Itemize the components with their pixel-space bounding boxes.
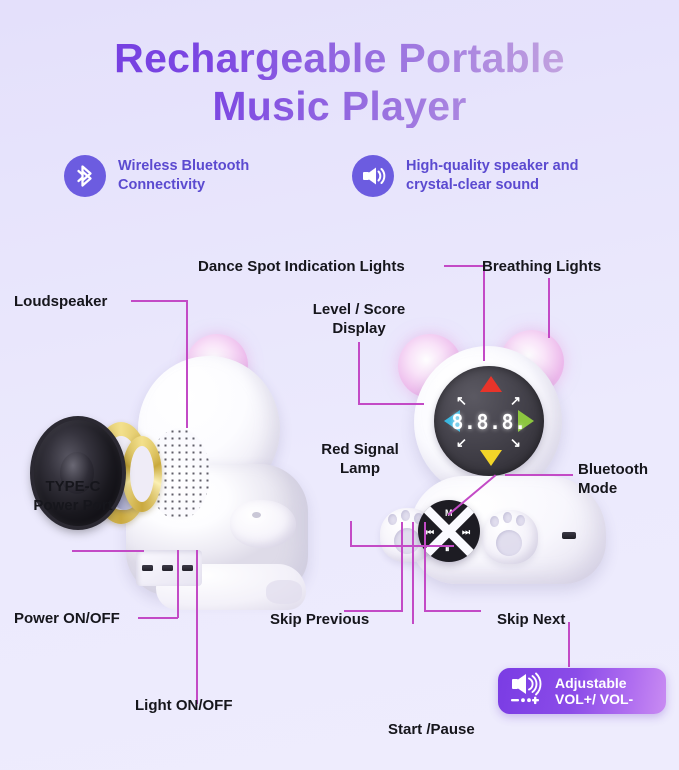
leader-line-bluetooth-mode <box>505 474 573 476</box>
down-triangle-yellow <box>480 450 502 466</box>
arrow-up-left-icon: ↖ <box>456 394 467 407</box>
vol-badge-line-1: Adjustable <box>555 675 633 691</box>
volume-icon <box>508 671 548 712</box>
arrow-down-right-icon: ↘ <box>510 436 521 449</box>
leader-line-power <box>177 550 179 618</box>
feature-speaker-label: High-quality speaker and crystal-clear s… <box>406 157 578 195</box>
page-title-line-1: Rechargeable Portable <box>0 38 679 80</box>
leader-line-loudspeaker <box>131 300 187 302</box>
leader-line-breathing <box>548 278 550 338</box>
callout-start-pause: Start /Pause <box>388 720 475 739</box>
callout-red-signal-lamp: Red Signal Lamp <box>312 440 408 478</box>
leader-line-loudspeaker <box>186 300 188 428</box>
leader-line-skip-next <box>425 610 481 612</box>
leader-line-dance-spot <box>444 265 484 267</box>
paw-toe <box>388 514 397 525</box>
callout-level-score-display: Level / Score Display <box>300 300 418 338</box>
paw-toe <box>401 510 410 521</box>
leader-line-red-signal <box>350 521 352 546</box>
callout-type-c-power-port: TYPE-C Power Port <box>18 477 128 515</box>
volume-slider-marks <box>511 696 539 704</box>
skip-previous-icon[interactable]: ⏮ <box>426 528 434 537</box>
callout-light-on-off: Light ON/OFF <box>135 696 232 715</box>
feature-speaker: High-quality speaker and crystal-clear s… <box>352 155 578 197</box>
arrow-down-left-icon: ↙ <box>456 436 467 449</box>
arrow-up-right-icon: ↗ <box>510 394 521 407</box>
callout-bluetooth-mode: Bluetooth Mode <box>578 460 648 498</box>
paw-toe <box>490 516 499 527</box>
leader-line-light <box>196 550 198 704</box>
paw-pad <box>496 530 522 556</box>
leader-line-start-pause <box>412 522 414 624</box>
paw-toe <box>516 515 525 526</box>
feature-bluetooth: Wireless Bluetooth Connectivity <box>64 155 249 197</box>
display-digits: 8.8.8. <box>434 410 544 434</box>
paw-toe <box>503 512 512 523</box>
callout-dance-spot-lights: Dance Spot Indication Lights <box>198 257 405 276</box>
leader-line-skip-previous <box>401 522 403 612</box>
leader-line-level-score <box>358 403 424 405</box>
vol-badge: Adjustable VOL+/ VOL- <box>498 668 666 714</box>
speaker-gold-ring-second-cut <box>130 446 154 502</box>
callout-skip-next: Skip Next <box>497 610 565 629</box>
leader-line-type-c <box>72 550 144 552</box>
nostril-icon <box>252 512 261 518</box>
light-button-port[interactable] <box>182 565 193 571</box>
snout-side-view <box>230 500 296 548</box>
power-button-port[interactable] <box>162 565 173 571</box>
speaker-icon <box>352 155 394 197</box>
skip-next-icon[interactable]: ⏭ <box>462 528 470 537</box>
page-title-line-2: Music Player <box>0 86 679 128</box>
level-score-display: ↖ ↗ ↙ ↘ 8.8.8. <box>434 366 544 476</box>
leader-line-dance-spot <box>483 265 485 361</box>
leader-line-vol-badge <box>568 622 570 667</box>
paw-front-right <box>482 510 538 564</box>
leader-line-level-score <box>358 342 360 404</box>
feature-bluetooth-label: Wireless Bluetooth Connectivity <box>118 157 249 195</box>
callout-loudspeaker: Loudspeaker <box>14 292 107 311</box>
leader-line-power <box>138 617 178 619</box>
paw-side-view <box>266 580 302 604</box>
type-c-port[interactable] <box>142 565 153 571</box>
paw-pad <box>394 528 420 554</box>
leader-line-skip-next <box>424 522 426 612</box>
vol-badge-line-2: VOL+/ VOL- <box>555 691 633 707</box>
bluetooth-icon <box>64 155 106 197</box>
header-section: Rechargeable Portable Music Player Wirel… <box>0 0 679 232</box>
callout-breathing-lights: Breathing Lights <box>482 257 601 276</box>
callout-skip-previous: Skip Previous <box>270 610 369 629</box>
callout-power-on-off: Power ON/OFF <box>14 609 120 628</box>
control-pad[interactable]: M ⏮ ⏭ ⏸ <box>418 500 480 562</box>
up-triangle-red <box>480 376 502 392</box>
bluetooth-mode-marker <box>562 532 576 539</box>
